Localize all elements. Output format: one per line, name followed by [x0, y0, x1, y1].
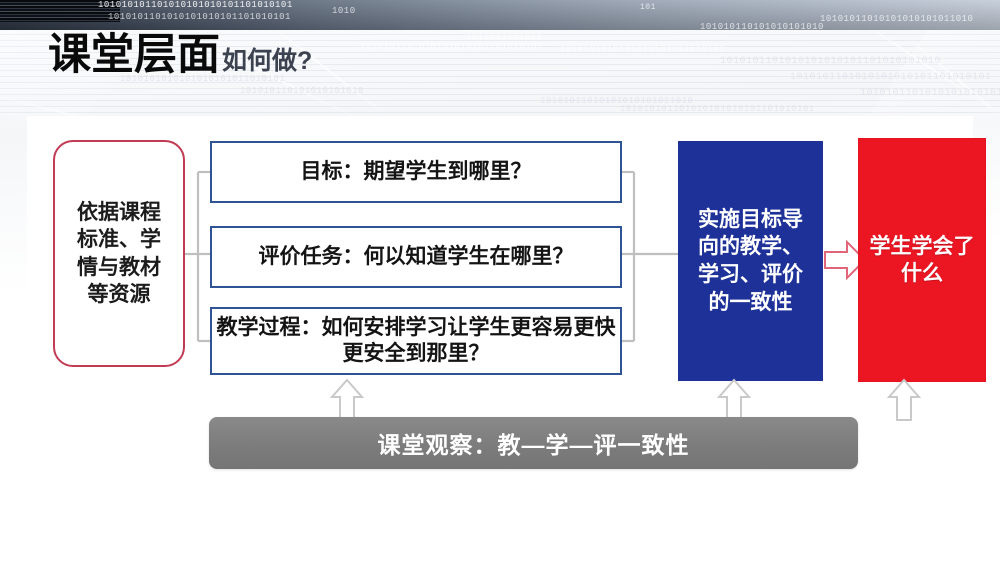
source-box-label: 依据课程标准、学情与教材等资源 — [69, 199, 169, 308]
up-arrow-icon-2 — [717, 378, 751, 422]
slide-title: 课堂层面 如何做? — [48, 34, 312, 77]
source-box[interactable]: 依据课程标准、学情与教材等资源 — [53, 140, 185, 367]
outcome-box[interactable]: 学生学会了什么 — [858, 138, 986, 382]
question-box-goal[interactable]: 目标：期望学生到哪里？ — [210, 141, 622, 203]
question-box-assessment-label: 评价任务：何以知道学生在哪里？ — [259, 244, 574, 270]
consistency-box-label: 实施目标导向的教学、学习、评价的一致性 — [689, 206, 813, 317]
question-box-process[interactable]: 教学过程：如何安排学习让学生更容易更快更安全到那里？ — [210, 307, 622, 375]
diagram-card: 依据课程标准、学情与教材等资源 目标：期望学生到哪里？ 评价任务：何以知道学生在… — [27, 116, 973, 482]
question-box-process-label: 教学过程：如何安排学习让学生更容易更快更安全到那里？ — [212, 315, 620, 368]
background-top-band-shading — [0, 0, 1000, 30]
question-box-assessment[interactable]: 评价任务：何以知道学生在哪里？ — [210, 226, 622, 288]
slide-canvas: 1010101010101010101011010101 10101011010… — [0, 0, 1000, 562]
question-box-goal-label: 目标：期望学生到哪里？ — [301, 159, 532, 185]
page-title: 课堂层面 — [48, 34, 220, 77]
consistency-box[interactable]: 实施目标导向的教学、学习、评价的一致性 — [678, 141, 823, 381]
background-top-band — [0, 0, 1000, 30]
up-arrow-icon-1 — [330, 378, 364, 422]
observation-bar[interactable]: 课堂观察：教—学—评一致性 — [209, 417, 858, 469]
background-stripe-block — [0, 0, 120, 22]
page-subtitle: 如何做? — [222, 49, 312, 74]
outcome-box-label: 学生学会了什么 — [867, 233, 977, 288]
observation-bar-label: 课堂观察：教—学—评一致性 — [378, 426, 690, 460]
up-arrow-icon-3 — [887, 378, 921, 422]
